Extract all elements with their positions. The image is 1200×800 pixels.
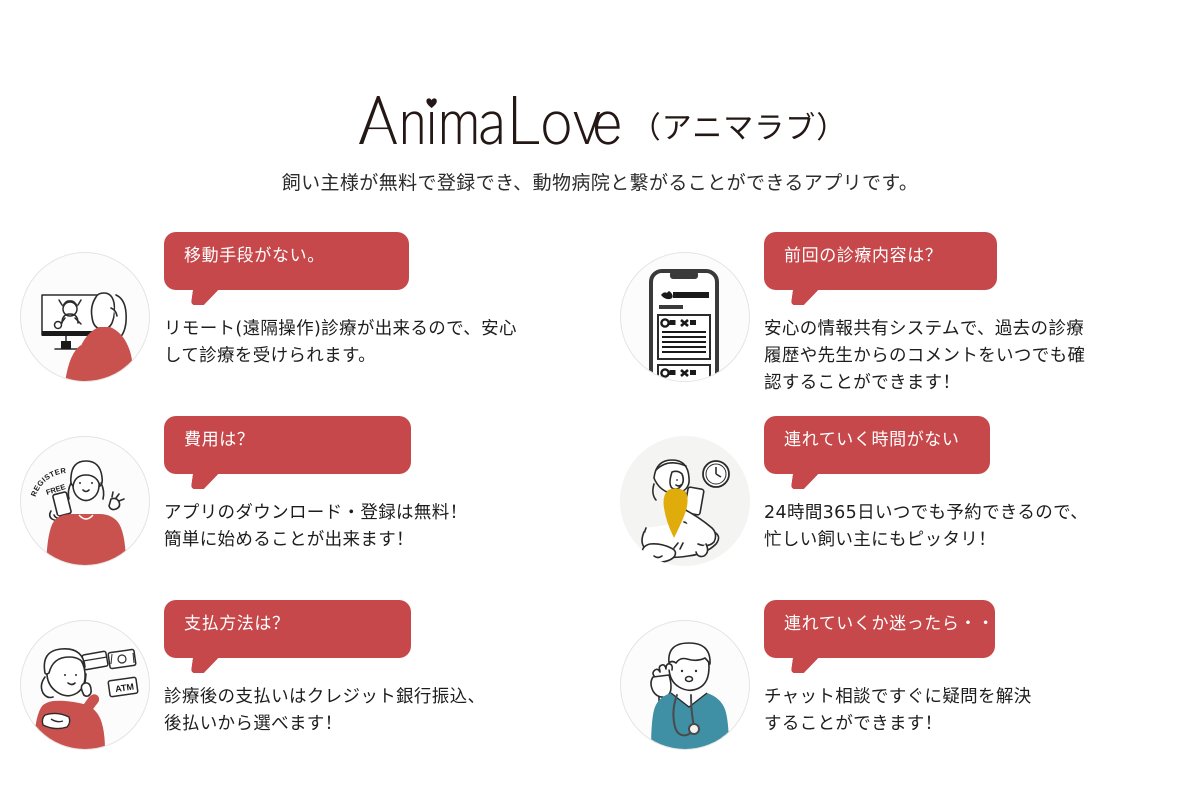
answer-text: チャット相談ですぐに疑問を解決 することができます！ [764, 684, 1200, 738]
illustration-payment: ATM [20, 620, 150, 750]
question-bubble: 連れていくか迷ったら・・・ [764, 600, 995, 658]
question-bubble: 移動手段がない。 [164, 232, 409, 290]
illustration-chat [620, 620, 750, 750]
answer-text: アプリのダウンロード・登録は無料！ 簡単に始めることが出来ます！ [164, 500, 600, 554]
illustration-no-time [620, 436, 750, 566]
question-text: 連れていく時間がない [784, 429, 970, 451]
card-body: 連れていく時間がない 24時間365日いつでも予約できるので、 忙しい飼い主にも… [750, 416, 1200, 554]
answer-text: リモート(遠隔操作)診療が出来るので、安心 して診療を受けられます。 [164, 316, 600, 370]
card-body: 費用は？ アプリのダウンロード・登録は無料！ 簡単に始めることが出来ます！ [150, 416, 600, 554]
question-text: 支払方法は？ [184, 613, 391, 635]
feature-card-medical-history: 前回の診療内容は？ 安心の情報共有システムで、過去の診療 履歴や先生からのコメン… [620, 232, 1200, 416]
question-bubble: 連れていく時間がない [764, 416, 990, 474]
tagline: 飼い主様が無料で登録でき、動物病院と繋がることができるアプリです。 [0, 170, 1200, 196]
answer-text: 安心の情報共有システムで、過去の診療 履歴や先生からのコメントをいつでも確 認す… [764, 316, 1200, 397]
animalove-logo [353, 88, 621, 150]
question-bubble: 前回の診療内容は？ [764, 232, 997, 290]
feature-card-remote-care: 移動手段がない。 リモート(遠隔操作)診療が出来るので、安心 して診療を受けられ… [20, 232, 600, 416]
card-body: 連れていくか迷ったら・・・ チャット相談ですぐに疑問を解決 することができます！ [750, 600, 1200, 738]
question-text: 前回の診療内容は？ [784, 245, 977, 267]
feature-card-no-time: 連れていく時間がない 24時間365日いつでも予約できるので、 忙しい飼い主にも… [620, 416, 1200, 600]
card-body: 移動手段がない。 リモート(遠隔操作)診療が出来るので、安心 して診療を受けられ… [150, 232, 600, 370]
brand-lockup: （アニマラブ） [0, 88, 1200, 150]
card-body: 前回の診療内容は？ 安心の情報共有システムで、過去の診療 履歴や先生からのコメン… [750, 232, 1200, 397]
illustration-cost: REGISTER FREE [20, 436, 150, 566]
feature-card-payment: ATM [20, 600, 600, 784]
feature-card-grid: 移動手段がない。 リモート(遠隔操作)診療が出来るので、安心 して診療を受けられ… [0, 232, 1200, 784]
question-bubble: 支払方法は？ [164, 600, 411, 658]
question-bubble: 費用は？ [164, 416, 411, 474]
illustration-remote-care [20, 252, 150, 382]
feature-card-chat: 連れていくか迷ったら・・・ チャット相談ですぐに疑問を解決 することができます！ [620, 600, 1200, 784]
question-text: 移動手段がない。 [184, 245, 389, 267]
answer-text: 診療後の支払いはクレジット銀行振込、 後払いから選べます！ [164, 684, 600, 738]
answer-text: 24時間365日いつでも予約できるので、 忙しい飼い主にもピッタリ！ [764, 500, 1200, 554]
page-header: （アニマラブ） 飼い主様が無料で登録でき、動物病院と繋がることができるアプリです… [0, 0, 1200, 196]
feature-card-cost: REGISTER FREE [20, 416, 600, 600]
card-body: 支払方法は？ 診療後の支払いはクレジット銀行振込、 後払いから選べます！ [150, 600, 600, 738]
question-text: 費用は？ [184, 429, 391, 451]
question-text: 連れていくか迷ったら・・・ [784, 613, 975, 635]
brand-kana: （アニマラブ） [631, 112, 847, 150]
landing-page: （アニマラブ） 飼い主様が無料で登録でき、動物病院と繋がることができるアプリです… [0, 0, 1200, 800]
illustration-medical-history [620, 252, 750, 382]
